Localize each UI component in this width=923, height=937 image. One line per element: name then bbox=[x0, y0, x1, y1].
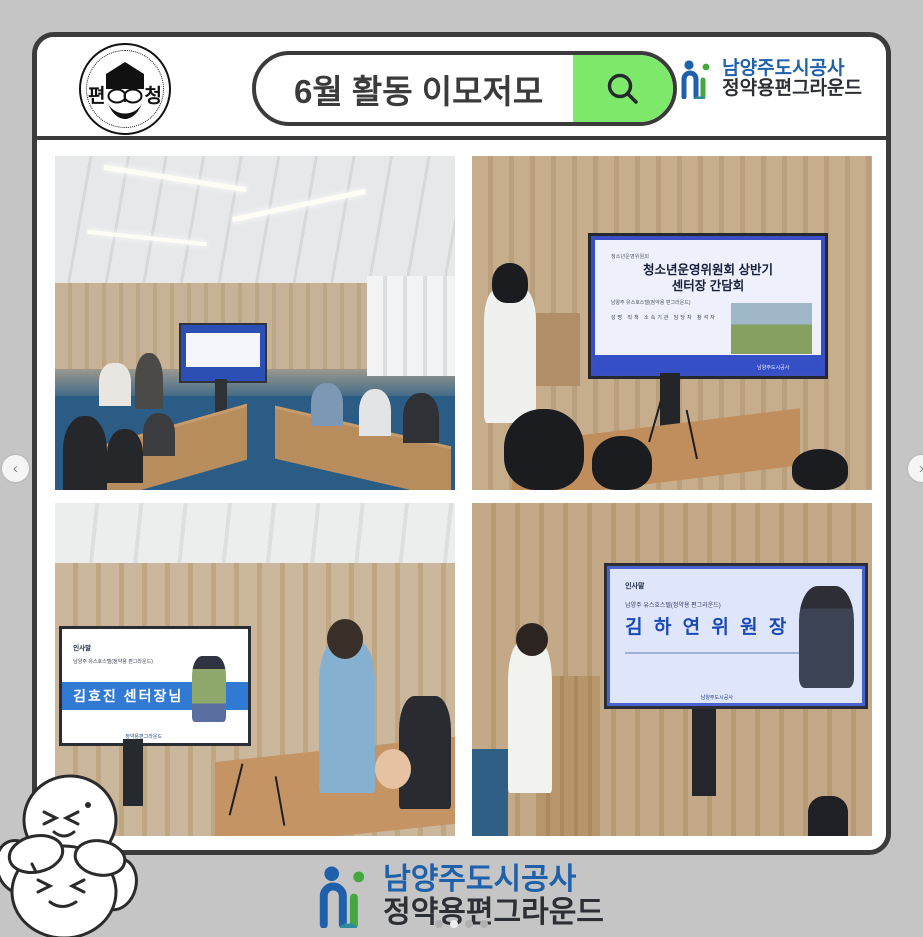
slide-inset-photo bbox=[731, 303, 812, 353]
slide-logo: 남양주도시공사 bbox=[701, 694, 733, 701]
pyeoncheong-stamp-logo: 편 청 bbox=[79, 43, 171, 135]
brand-line1: 남양주도시공사 bbox=[722, 59, 862, 79]
carousel-dot-3[interactable] bbox=[465, 920, 473, 928]
slide-kicker: 인사말 bbox=[73, 642, 237, 652]
slide-name: 김효진 센터장님 bbox=[73, 686, 183, 706]
search-button[interactable] bbox=[573, 55, 673, 122]
screen-stand bbox=[692, 709, 716, 796]
attendee bbox=[143, 413, 175, 456]
speaking-chairperson bbox=[508, 643, 552, 793]
attendee-head bbox=[792, 449, 848, 489]
speaker-head bbox=[492, 263, 528, 303]
attendee-head bbox=[504, 409, 584, 489]
attendee bbox=[359, 389, 391, 436]
brand-logo-header: 남양주도시공사 정약용편그라운드 bbox=[681, 59, 862, 99]
search-bar[interactable]: 6월 활동 이모저모 bbox=[252, 51, 677, 126]
photo-presentation-slide-briefing[interactable]: 청소년운영위원회 청소년운영위원회 상반기 센터장 간담회 남양주 유스호스텔(… bbox=[472, 156, 872, 490]
speaker-with-microphone bbox=[484, 289, 536, 422]
blue-carpet bbox=[472, 749, 508, 836]
carousel-dot-2[interactable] bbox=[450, 920, 458, 928]
slide-title: 청소년운영위원회 상반기 센터장 간담회 bbox=[611, 263, 805, 294]
carousel-dot-1[interactable] bbox=[435, 920, 443, 928]
chevron-right-icon: › bbox=[919, 460, 923, 477]
namyangju-mark-icon bbox=[319, 864, 373, 928]
window-blinds bbox=[367, 276, 455, 376]
presenter bbox=[135, 353, 163, 410]
standing-director bbox=[319, 643, 375, 793]
namyangju-mark-icon bbox=[681, 59, 715, 99]
slide-sheet: 인사말 남양주 유스호스텔(정약용 편그라운드) 김 하 연 위 원 장 남양주… bbox=[610, 569, 862, 704]
footer-brand-line1: 남양주도시공사 bbox=[383, 863, 604, 896]
chevron-left-icon: ‹ bbox=[13, 460, 18, 477]
chairperson-head bbox=[516, 623, 548, 656]
slide-character-illustration bbox=[799, 586, 854, 688]
microphone bbox=[808, 796, 848, 836]
carousel-dots[interactable] bbox=[0, 920, 923, 928]
brand-line2: 정약용편그라운드 bbox=[722, 79, 862, 99]
carousel-next-button[interactable]: › bbox=[908, 455, 923, 482]
slide-title-line2: 센터장 간담회 bbox=[611, 279, 805, 295]
director-head bbox=[327, 619, 363, 659]
search-icon bbox=[603, 69, 643, 109]
podium bbox=[536, 313, 580, 386]
presentation-screen bbox=[179, 323, 267, 384]
slide-person-photo bbox=[192, 656, 225, 722]
standing-attendee bbox=[99, 363, 131, 406]
attendee bbox=[403, 393, 439, 443]
brand-text-header: 남양주도시공사 정약용편그라운드 bbox=[722, 59, 862, 99]
carousel-dot-4[interactable] bbox=[480, 920, 488, 928]
content-card: 편 청 6월 활동 이모저모 bbox=[32, 32, 891, 855]
slide-kicker: 청소년운영위원회 bbox=[611, 253, 805, 260]
slide-logo: 남양주도시공사 bbox=[757, 364, 789, 371]
photo-greeting-committee-chair[interactable]: 인사말 남양주 유스호스텔(정약용 편그라운드) 김 하 연 위 원 장 남양주… bbox=[472, 503, 872, 837]
ceiling-grid bbox=[55, 156, 455, 289]
attendee bbox=[63, 416, 107, 489]
ceiling-grid bbox=[55, 503, 455, 563]
attendee bbox=[399, 696, 451, 809]
slide-title-line1: 청소년운영위원회 상반기 bbox=[611, 263, 805, 279]
attendee bbox=[107, 429, 143, 482]
slide-sheet: 청소년운영위원회 청소년운영위원회 상반기 센터장 간담회 남양주 유스호스텔(… bbox=[595, 240, 821, 373]
presentation-screen: 인사말 남양주 유스호스텔(정약용 편그라운드) 김효진 센터장님 정약용편그라… bbox=[59, 626, 251, 746]
search-input[interactable]: 6월 활동 이모저모 bbox=[256, 65, 573, 113]
presentation-screen: 인사말 남양주 유스호스텔(정약용 편그라운드) 김 하 연 위 원 장 남양주… bbox=[604, 563, 868, 710]
clapping-hands bbox=[375, 749, 411, 789]
mustache-hat-face-icon bbox=[98, 59, 152, 121]
card-header: 편 청 6월 활동 이모저모 bbox=[37, 37, 886, 140]
slide-sheet: 인사말 남양주 유스호스텔(정약용 편그라운드) 김효진 센터장님 정약용편그라… bbox=[62, 629, 248, 743]
attendee bbox=[311, 383, 343, 426]
photo-wide-conference-room[interactable]: 넓은 회의실 전경 - 격자 천장, 우드 벽면, 파란 카펫, ㄷ자 회의 테… bbox=[55, 156, 455, 490]
attendee-head bbox=[592, 436, 652, 489]
photo-grid: 넓은 회의실 전경 - 격자 천장, 우드 벽면, 파란 카펫, ㄷ자 회의 테… bbox=[37, 144, 886, 850]
presentation-screen: 청소년운영위원회 청소년운영위원회 상반기 센터장 간담회 남양주 유스호스텔(… bbox=[588, 233, 828, 380]
carousel-prev-button[interactable]: ‹ bbox=[2, 455, 29, 482]
